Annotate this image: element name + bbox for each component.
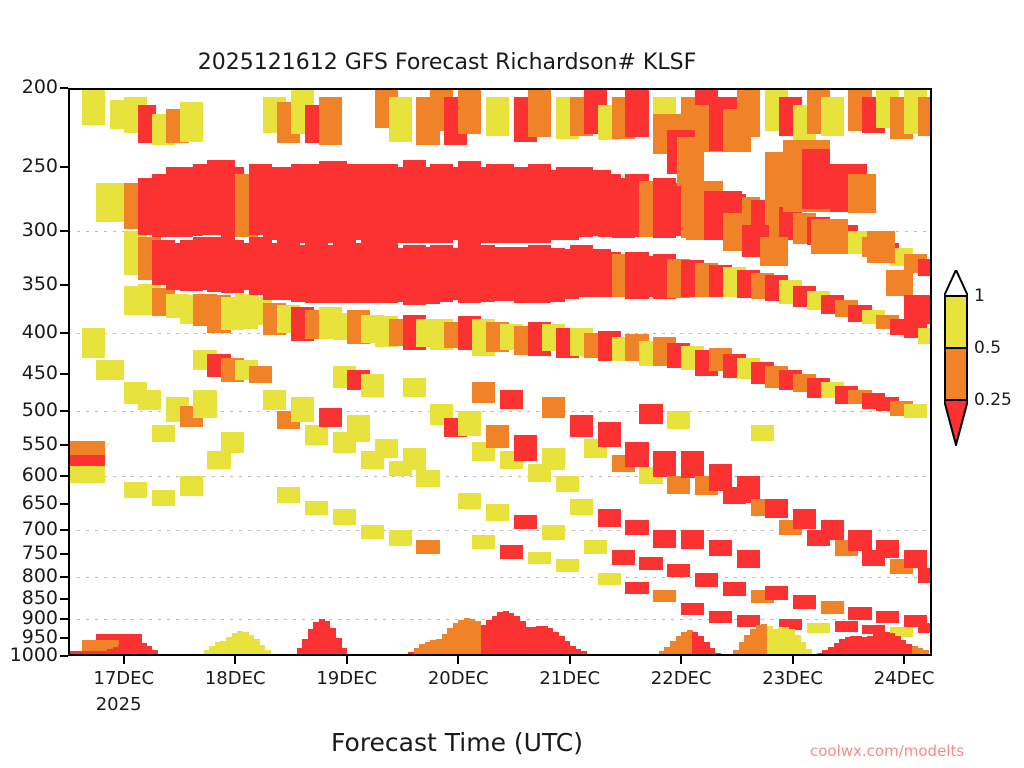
heatmap-cell bbox=[867, 231, 895, 263]
x-tick-mark bbox=[680, 656, 682, 664]
y-tick-mark bbox=[60, 475, 68, 477]
y-tick-label: 600 bbox=[0, 464, 58, 486]
heatmap-cell bbox=[807, 623, 830, 633]
colorbar-tick-line bbox=[944, 399, 968, 401]
heatmap-cell bbox=[361, 525, 384, 539]
heatmap-cell bbox=[486, 97, 509, 136]
watermark-link[interactable]: coolwx.com/modelts bbox=[810, 742, 964, 760]
heatmap-cell bbox=[723, 109, 751, 153]
terrain-segment bbox=[96, 654, 111, 656]
terrain-segment bbox=[835, 654, 850, 656]
y-tick-label: 450 bbox=[0, 362, 58, 384]
x-tick-mark bbox=[123, 656, 125, 664]
heatmap-cell bbox=[68, 441, 105, 455]
heatmap-cell bbox=[542, 397, 565, 418]
heatmap-cell bbox=[333, 509, 356, 525]
heatmap-cell bbox=[277, 487, 300, 503]
heatmap-cell bbox=[760, 237, 788, 266]
terrain-segment bbox=[807, 654, 822, 656]
y-tick-mark bbox=[60, 410, 68, 412]
terrain-segment bbox=[403, 654, 418, 656]
heatmap-cell bbox=[667, 411, 690, 429]
terrain-segment bbox=[639, 654, 654, 656]
heatmap-cell bbox=[221, 432, 244, 453]
x-tick-mark bbox=[569, 656, 571, 664]
terrain-segment bbox=[486, 654, 501, 656]
heatmap-cell bbox=[403, 378, 426, 397]
y-tick-mark bbox=[60, 87, 68, 89]
heatmap-cell bbox=[249, 366, 272, 383]
terrain-segment bbox=[709, 654, 724, 656]
y-tick-mark bbox=[60, 230, 68, 232]
x-tick-label: 23DEC bbox=[745, 668, 841, 689]
gridline bbox=[68, 530, 932, 531]
y-tick-mark bbox=[60, 529, 68, 531]
heatmap-cell bbox=[765, 586, 788, 600]
heatmap-cell bbox=[918, 259, 932, 276]
y-tick-mark bbox=[60, 373, 68, 375]
heatmap-cell bbox=[416, 470, 439, 488]
x-tick-mark bbox=[792, 656, 794, 664]
heatmap-cell bbox=[542, 448, 565, 470]
heatmap-cell bbox=[486, 425, 509, 447]
terrain-segment bbox=[152, 654, 167, 656]
heatmap-cell bbox=[667, 476, 690, 494]
heatmap-cell bbox=[152, 425, 175, 442]
heatmap-cell bbox=[305, 425, 328, 445]
heatmap-cell bbox=[653, 451, 676, 477]
heatmap-cell bbox=[904, 550, 927, 569]
heatmap-cell bbox=[472, 382, 495, 403]
x-tick-label: 20DEC bbox=[410, 668, 506, 689]
terrain-segment bbox=[458, 654, 473, 656]
heatmap-cell bbox=[305, 501, 328, 515]
colorbar-tick-label: 0.25 bbox=[974, 390, 1012, 410]
terrain-segment bbox=[500, 654, 515, 656]
heatmap-cell bbox=[709, 611, 732, 624]
chart-title: 2025121612 GFS Forecast Richardson# KLSF bbox=[0, 50, 1024, 75]
y-tick-mark bbox=[60, 576, 68, 578]
y-tick-label: 700 bbox=[0, 518, 58, 540]
y-tick-label: 200 bbox=[0, 76, 58, 98]
terrain-segment bbox=[528, 654, 543, 656]
terrain-segment bbox=[695, 654, 710, 656]
heatmap-cell bbox=[319, 408, 342, 427]
heatmap-cell bbox=[556, 476, 579, 492]
y-tick-mark bbox=[60, 444, 68, 446]
terrain-segment bbox=[737, 654, 752, 656]
terrain-segment bbox=[570, 654, 585, 656]
heatmap-cell bbox=[68, 455, 105, 466]
x-tick-mark bbox=[903, 656, 905, 664]
heatmap-cell bbox=[709, 540, 732, 556]
heatmap-cell bbox=[458, 88, 481, 134]
y-tick-label: 1000 bbox=[0, 644, 58, 666]
x-tick-label: 22DEC bbox=[633, 668, 729, 689]
y-tick-mark bbox=[60, 503, 68, 505]
heatmap-cell bbox=[667, 564, 690, 578]
heatmap-cell bbox=[375, 439, 398, 458]
terrain-segment bbox=[249, 654, 264, 656]
heatmap-cell bbox=[528, 552, 551, 564]
y-tick-label: 850 bbox=[0, 587, 58, 609]
heatmap-cell bbox=[811, 219, 848, 254]
heatmap-cell bbox=[180, 102, 203, 142]
colorbar-under-arrow bbox=[944, 400, 968, 446]
heatmap-cell bbox=[82, 88, 105, 125]
terrain-segment bbox=[821, 654, 836, 656]
y-tick-label: 550 bbox=[0, 433, 58, 455]
terrain-segment bbox=[180, 654, 195, 656]
heatmap-cell bbox=[416, 540, 439, 554]
terrain-segment bbox=[723, 654, 738, 656]
y-tick-label: 650 bbox=[0, 492, 58, 514]
heatmap-cell bbox=[598, 422, 621, 447]
heatmap-cell bbox=[514, 435, 537, 460]
heatmap-cell bbox=[904, 295, 932, 323]
heatmap-cell bbox=[681, 451, 704, 478]
terrain-segment bbox=[542, 654, 557, 656]
terrain-segment bbox=[793, 654, 808, 656]
colorbar-band[interactable] bbox=[944, 348, 968, 400]
terrain-segment bbox=[416, 654, 431, 656]
terrain-segment bbox=[138, 654, 153, 656]
terrain-segment bbox=[291, 654, 306, 656]
heatmap-cell bbox=[472, 535, 495, 549]
x-tick-label: 19DEC bbox=[299, 668, 395, 689]
heatmap-cell bbox=[291, 397, 314, 422]
terrain-segment bbox=[235, 654, 250, 656]
heatmap-cell bbox=[486, 504, 509, 521]
colorbar-tick-label: 1 bbox=[974, 286, 985, 306]
heatmap-cell bbox=[347, 415, 370, 442]
colorbar-tick-line bbox=[944, 347, 968, 349]
heatmap-cell bbox=[263, 390, 286, 410]
colorbar-over-arrow-outline bbox=[944, 270, 968, 297]
y-tick-mark bbox=[60, 553, 68, 555]
y-tick-label: 400 bbox=[0, 321, 58, 343]
heatmap-cell bbox=[319, 97, 342, 145]
heatmap-cell bbox=[570, 499, 593, 515]
heatmap-cell bbox=[653, 530, 676, 548]
heatmap-cell bbox=[625, 520, 648, 535]
heatmap-cell bbox=[653, 590, 676, 602]
heatmap-cell bbox=[458, 411, 481, 436]
terrain-segment bbox=[848, 654, 863, 656]
gridline bbox=[68, 577, 932, 578]
terrain-segment bbox=[319, 654, 334, 656]
terrain-segment bbox=[277, 654, 292, 656]
x-tick-mark bbox=[346, 656, 348, 664]
heatmap-cell bbox=[876, 540, 899, 558]
heatmap-cell bbox=[639, 404, 662, 424]
colorbar-tick-label: 0.5 bbox=[974, 338, 1001, 358]
terrain-segment bbox=[904, 654, 919, 656]
heatmap-cell bbox=[96, 183, 124, 221]
heatmap-cell bbox=[751, 425, 774, 441]
colorbar[interactable]: 10.50.25 bbox=[944, 296, 968, 444]
heatmap-cell bbox=[625, 582, 648, 595]
heatmap-cell bbox=[612, 550, 635, 565]
heatmap-cell bbox=[68, 466, 105, 484]
heatmap-cell bbox=[681, 603, 704, 615]
terrain-segment bbox=[347, 654, 362, 656]
terrain-segment bbox=[124, 654, 139, 656]
terrain-segment bbox=[193, 654, 208, 656]
terrain-segment bbox=[514, 654, 529, 656]
x-tick-label: 24DEC bbox=[856, 668, 952, 689]
heatmap-cell bbox=[737, 550, 760, 569]
heatmap-cell bbox=[765, 499, 788, 518]
heatmap-cell bbox=[361, 374, 384, 397]
terrain-segment bbox=[765, 654, 780, 656]
heatmap-cell bbox=[793, 595, 816, 609]
heatmap-cell bbox=[458, 493, 481, 509]
terrain-segment bbox=[625, 654, 640, 656]
heatmap-canvas bbox=[68, 88, 932, 656]
heatmap-cell bbox=[138, 390, 161, 410]
heatmap-cell bbox=[802, 149, 830, 209]
heatmap-cell bbox=[918, 623, 932, 633]
terrain-segment bbox=[207, 654, 222, 656]
heatmap-cell bbox=[598, 509, 621, 527]
terrain-segment bbox=[653, 654, 668, 656]
terrain-segment bbox=[305, 654, 320, 656]
x-tick-label: 17DEC bbox=[76, 668, 172, 689]
y-tick-label: 800 bbox=[0, 565, 58, 587]
y-tick-mark bbox=[60, 166, 68, 168]
heatmap-cell bbox=[723, 582, 746, 597]
y-tick-label: 500 bbox=[0, 399, 58, 421]
heatmap-cell bbox=[124, 482, 147, 499]
heatmap-cell bbox=[821, 520, 844, 540]
heatmap-cell bbox=[96, 360, 124, 381]
colorbar-tick-line bbox=[944, 295, 968, 297]
terrain-segment bbox=[430, 654, 445, 656]
y-tick-mark bbox=[60, 284, 68, 286]
terrain-segment bbox=[612, 654, 627, 656]
heatmap-cell bbox=[542, 525, 565, 540]
heatmap-cell bbox=[180, 476, 203, 496]
heatmap-cell bbox=[389, 97, 412, 142]
y-tick-mark bbox=[60, 618, 68, 620]
heatmap-cell bbox=[500, 545, 523, 559]
terrain-segment bbox=[918, 654, 932, 656]
heatmap-cell bbox=[848, 607, 871, 621]
year-label: 2025 bbox=[96, 694, 142, 715]
heatmap-cell bbox=[821, 601, 844, 614]
terrain-segment bbox=[681, 654, 696, 656]
heatmap-cell bbox=[681, 530, 704, 549]
terrain-segment bbox=[472, 654, 487, 656]
heatmap-cell bbox=[389, 530, 412, 546]
x-tick-label: 18DEC bbox=[187, 668, 283, 689]
heatmap-cell bbox=[514, 515, 537, 529]
heatmap-cell bbox=[918, 97, 932, 136]
terrain-segment bbox=[375, 654, 390, 656]
terrain-segment bbox=[361, 654, 376, 656]
heatmap-cell bbox=[639, 557, 662, 570]
heatmap-cell bbox=[584, 540, 607, 554]
heatmap-cell bbox=[821, 97, 844, 136]
heatmap-cell bbox=[876, 611, 899, 623]
terrain-segment bbox=[862, 654, 877, 656]
heatmap-cell bbox=[677, 137, 705, 186]
y-tick-label: 350 bbox=[0, 273, 58, 295]
heatmap-cell bbox=[793, 509, 816, 529]
terrain-segment bbox=[876, 654, 891, 656]
heatmap-cell bbox=[82, 328, 105, 358]
y-tick-label: 750 bbox=[0, 542, 58, 564]
y-tick-mark bbox=[60, 332, 68, 334]
heatmap-cell bbox=[207, 451, 230, 468]
heatmap-cell bbox=[403, 448, 426, 470]
heatmap-cell bbox=[598, 573, 621, 585]
heatmap-cell bbox=[848, 530, 871, 551]
terrain-segment bbox=[166, 654, 181, 656]
y-tick-mark bbox=[60, 598, 68, 600]
heatmap-cell bbox=[528, 88, 551, 137]
heatmap-cell bbox=[500, 390, 523, 409]
heatmap-cell bbox=[918, 568, 932, 583]
terrain-segment bbox=[751, 654, 766, 656]
heatmap-cell bbox=[625, 88, 648, 137]
heatmap-cell bbox=[848, 174, 876, 213]
terrain-segment bbox=[263, 654, 278, 656]
y-tick-label: 300 bbox=[0, 219, 58, 241]
heatmap-cell bbox=[835, 621, 858, 632]
terrain-segment bbox=[584, 654, 599, 656]
terrain-segment bbox=[389, 654, 404, 656]
heatmap-cell bbox=[570, 415, 593, 437]
x-tick-label: 21DEC bbox=[522, 668, 618, 689]
heatmap-cell bbox=[193, 390, 216, 419]
heatmap-cell bbox=[886, 270, 914, 296]
terrain-segment bbox=[598, 654, 613, 656]
colorbar-band[interactable] bbox=[944, 296, 968, 348]
heatmap-cell bbox=[625, 442, 648, 467]
terrain-segment bbox=[82, 654, 97, 656]
heatmap-cell bbox=[152, 490, 175, 506]
x-tick-mark bbox=[457, 656, 459, 664]
y-tick-mark bbox=[60, 655, 68, 657]
heatmap-cell bbox=[556, 559, 579, 572]
heatmap-cell bbox=[904, 404, 927, 418]
heatmap-cell bbox=[695, 573, 718, 587]
terrain-segment bbox=[68, 654, 83, 656]
plot-area bbox=[68, 88, 932, 656]
y-tick-label: 250 bbox=[0, 155, 58, 177]
heatmap-cell bbox=[918, 328, 932, 344]
x-tick-mark bbox=[234, 656, 236, 664]
y-tick-mark bbox=[60, 637, 68, 639]
